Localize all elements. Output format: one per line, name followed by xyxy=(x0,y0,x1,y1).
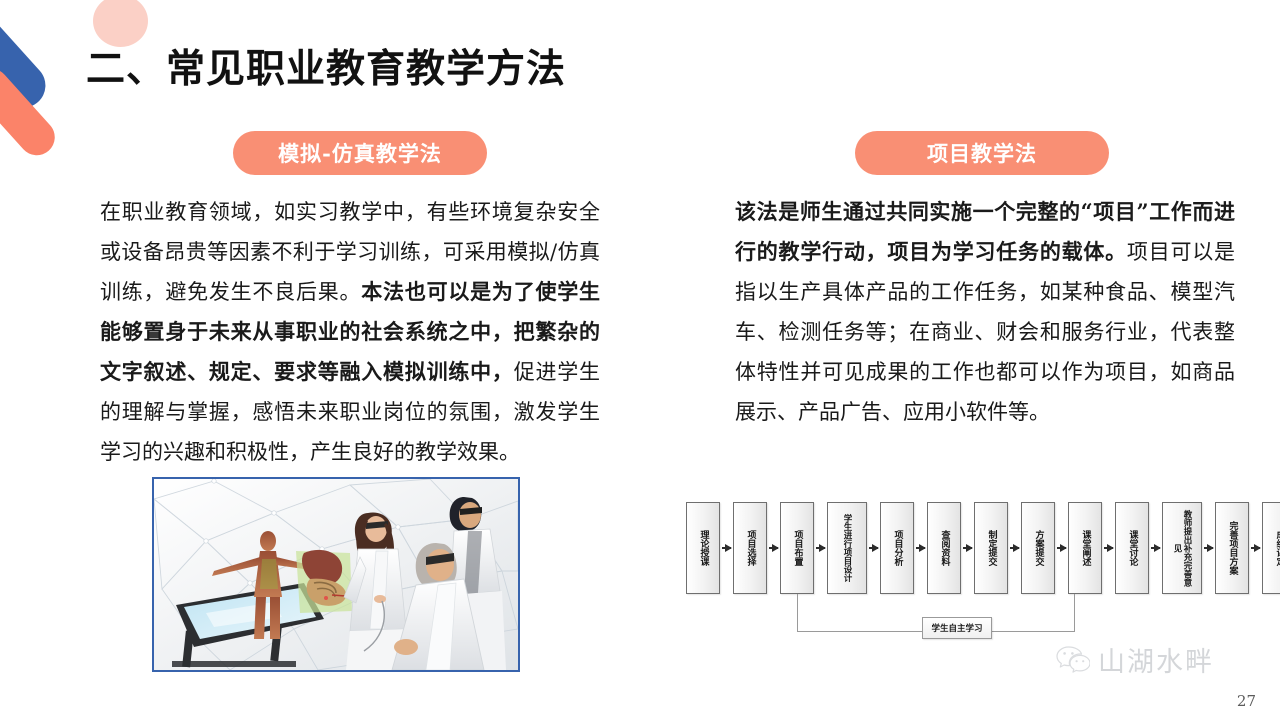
photo-content xyxy=(154,479,518,670)
flow-arrow-2 xyxy=(769,547,778,549)
flow-arrow-8 xyxy=(1057,547,1066,549)
flow-feedback-box: 学生自主学习 xyxy=(922,617,992,639)
left-section-header-label: 模拟-仿真教学法 xyxy=(278,138,442,168)
flow-arrow-4 xyxy=(869,547,878,549)
flow-step-13: 成绩评定 xyxy=(1262,502,1280,594)
flow-step-5: 项目分析 xyxy=(880,502,914,594)
project-teaching-flowchart: 理论授课 项目选择 项目布置 学生进行项目设计 项目分析 查阅资料 制定提交 方… xyxy=(686,502,1242,654)
flow-step-2-label: 项目选择 xyxy=(745,530,756,566)
flow-arrow-12 xyxy=(1251,547,1260,549)
flow-step-2: 项目选择 xyxy=(733,502,767,594)
flow-step-12-label: 完善项目方案 xyxy=(1227,521,1238,575)
flow-arrow-7 xyxy=(1010,547,1019,549)
flow-step-1-label: 理论授课 xyxy=(698,530,709,566)
flow-step-3-label: 项目布置 xyxy=(792,530,803,566)
right-section-body-text: 该法是师生通过共同实施一个完整的“项目”工作而进行的教学行动，项目为学习任务的载… xyxy=(735,192,1235,432)
flow-step-11-label: 教师提出补充完善意见 xyxy=(1172,506,1192,590)
flow-arrow-6 xyxy=(963,547,972,549)
flow-feedback-bracket-left xyxy=(797,594,922,632)
flow-step-7: 制定提交 xyxy=(974,502,1008,594)
flow-step-10-label: 课堂讨论 xyxy=(1127,530,1138,566)
page-title: 二、常见职业教育教学方法 xyxy=(86,38,566,94)
flow-step-5-label: 项目分析 xyxy=(892,530,903,566)
flow-arrow-3 xyxy=(816,547,825,549)
flow-arrow-5 xyxy=(916,547,925,549)
flow-arrow-1 xyxy=(722,547,731,549)
flow-step-8-label: 方案提交 xyxy=(1033,530,1044,566)
flow-step-11: 教师提出补充完善意见 xyxy=(1162,502,1202,594)
left-section-header-pill: 模拟-仿真教学法 xyxy=(233,131,487,175)
anatomy-lab-illustration xyxy=(154,479,518,670)
flow-arrow-11 xyxy=(1204,547,1213,549)
flow-step-7-label: 制定提交 xyxy=(986,530,997,566)
flow-step-6: 查阅资料 xyxy=(927,502,961,594)
flow-step-9-label: 课堂阐述 xyxy=(1080,530,1091,566)
flow-step-8: 方案提交 xyxy=(1021,502,1055,594)
flow-arrow-9 xyxy=(1104,547,1113,549)
flow-step-3: 项目布置 xyxy=(780,502,814,594)
flow-step-10: 课堂讨论 xyxy=(1115,502,1149,594)
flow-feedback-label: 学生自主学习 xyxy=(931,622,982,634)
watermark: 山湖水畔 xyxy=(1056,640,1214,679)
simulation-teaching-photo xyxy=(152,477,520,672)
right-section-header-label: 项目教学法 xyxy=(927,138,1037,168)
flow-step-1: 理论授课 xyxy=(686,502,720,594)
flow-feedback-bracket-right xyxy=(991,594,1075,632)
flow-step-9: 课堂阐述 xyxy=(1068,502,1102,594)
flow-step-13-label: 成绩评定 xyxy=(1274,530,1280,566)
flow-step-12: 完善项目方案 xyxy=(1215,502,1249,594)
left-section-body-text: 在职业教育领域，如实习教学中，有些环境复杂安全或设备昂贵等因素不利于学习训练，可… xyxy=(100,192,600,472)
page-number: 27 xyxy=(1237,692,1256,710)
wechat-icon xyxy=(1056,646,1090,674)
flow-step-4: 学生进行项目设计 xyxy=(827,502,867,594)
flow-step-4-label: 学生进行项目设计 xyxy=(842,514,852,582)
flow-step-6-label: 查阅资料 xyxy=(939,530,950,566)
watermark-text: 山湖水畔 xyxy=(1098,640,1214,679)
slide-canvas: 二、常见职业教育教学方法 模拟-仿真教学法 在职业教育领域，如实习教学中，有些环… xyxy=(0,0,1280,720)
right-section-header-pill: 项目教学法 xyxy=(855,131,1109,175)
right-paragraph-normal-part: 项目可以是指以生产具体产品的工作任务，如某种食品、模型汽车、检测任务等；在商业、… xyxy=(735,240,1235,424)
flow-arrow-10 xyxy=(1151,547,1160,549)
